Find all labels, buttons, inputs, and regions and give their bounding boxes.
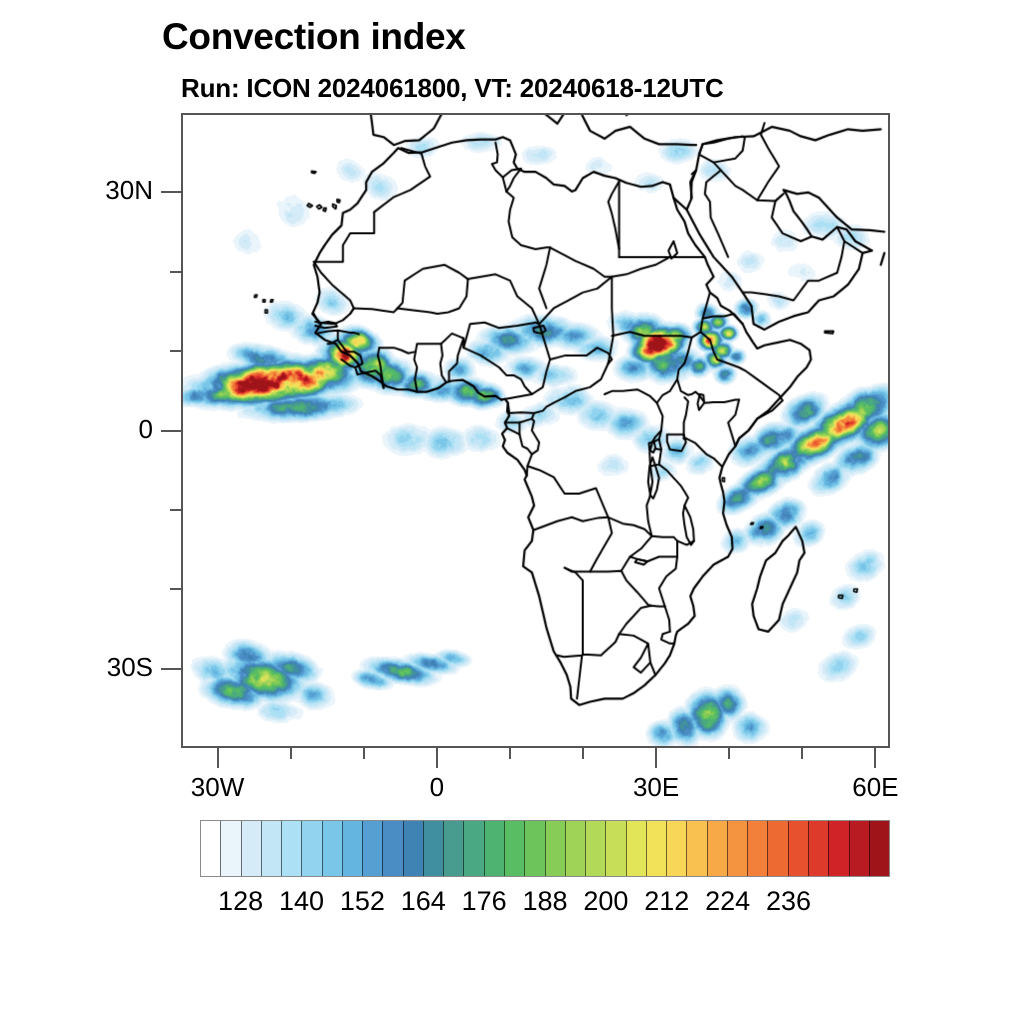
- colorbar[interactable]: [200, 820, 890, 877]
- colorbar-cell: [423, 821, 443, 876]
- colorbar-cell: [545, 821, 565, 876]
- colorbar-cell: [707, 821, 727, 876]
- x-tick-major: [436, 748, 438, 768]
- colorbar-cell: [301, 821, 321, 876]
- y-tick-minor: [170, 271, 181, 273]
- x-tick-minor: [290, 748, 292, 759]
- x-tick-major: [217, 748, 219, 768]
- colorbar-cell: [504, 821, 524, 876]
- y-tick-major: [161, 430, 181, 432]
- y-tick-major: [161, 191, 181, 193]
- colorbar-cell: [220, 821, 240, 876]
- x-tick-minor: [363, 748, 365, 759]
- colorbar-cell: [646, 821, 666, 876]
- colorbar-cell: [727, 821, 747, 876]
- colorbar-cell: [585, 821, 605, 876]
- y-tick-major: [161, 668, 181, 670]
- colorbar-cell: [463, 821, 483, 876]
- x-axis-label: 30E: [596, 772, 716, 803]
- x-axis-label: 30W: [158, 772, 278, 803]
- x-axis-label: 60E: [815, 772, 935, 803]
- colorbar-cell: [849, 821, 869, 876]
- colorbar-cell: [686, 821, 706, 876]
- colorbar-cell: [281, 821, 301, 876]
- colorbar-cell: [322, 821, 342, 876]
- page-title: Convection index: [162, 16, 466, 58]
- colorbar-cell: [484, 821, 504, 876]
- y-axis-label: 30S: [33, 652, 153, 683]
- x-tick-minor: [509, 748, 511, 759]
- colorbar-tick-label: 236: [734, 886, 844, 917]
- y-axis-label: 0: [33, 414, 153, 445]
- x-tick-minor: [728, 748, 730, 759]
- colorbar-cell: [565, 821, 585, 876]
- x-tick-minor: [801, 748, 803, 759]
- colorbar-cell: [443, 821, 463, 876]
- colorbar-cell: [747, 821, 767, 876]
- colorbar-cell: [201, 821, 220, 876]
- y-axis-label: 30N: [33, 175, 153, 206]
- x-tick-major: [874, 748, 876, 768]
- colorbar-cell: [342, 821, 362, 876]
- colorbar-cell: [382, 821, 402, 876]
- colorbar-cell: [869, 821, 889, 876]
- x-tick-major: [655, 748, 657, 768]
- x-axis-label: 0: [377, 772, 497, 803]
- weather-map-figure: Convection index Run: ICON 2024061800, V…: [0, 0, 1024, 1024]
- map-plot-area[interactable]: [181, 113, 890, 748]
- y-tick-minor: [170, 588, 181, 590]
- colorbar-cell: [241, 821, 261, 876]
- colorbar-cell: [808, 821, 828, 876]
- colorbar-cell: [767, 821, 787, 876]
- colorbar-cell: [261, 821, 281, 876]
- colorbar-cell: [828, 821, 848, 876]
- colorbar-cell: [362, 821, 382, 876]
- colorbar-cell: [788, 821, 808, 876]
- y-tick-minor: [170, 509, 181, 511]
- y-tick-minor: [170, 350, 181, 352]
- colorbar-cell: [626, 821, 646, 876]
- x-tick-minor: [582, 748, 584, 759]
- colorbar-cell: [403, 821, 423, 876]
- run-valid-time-subtitle: Run: ICON 2024061800, VT: 20240618-12UTC: [181, 73, 724, 104]
- colorbar-cell: [666, 821, 686, 876]
- convection-index-raster: [183, 115, 888, 746]
- colorbar-cell: [524, 821, 544, 876]
- colorbar-cell: [605, 821, 625, 876]
